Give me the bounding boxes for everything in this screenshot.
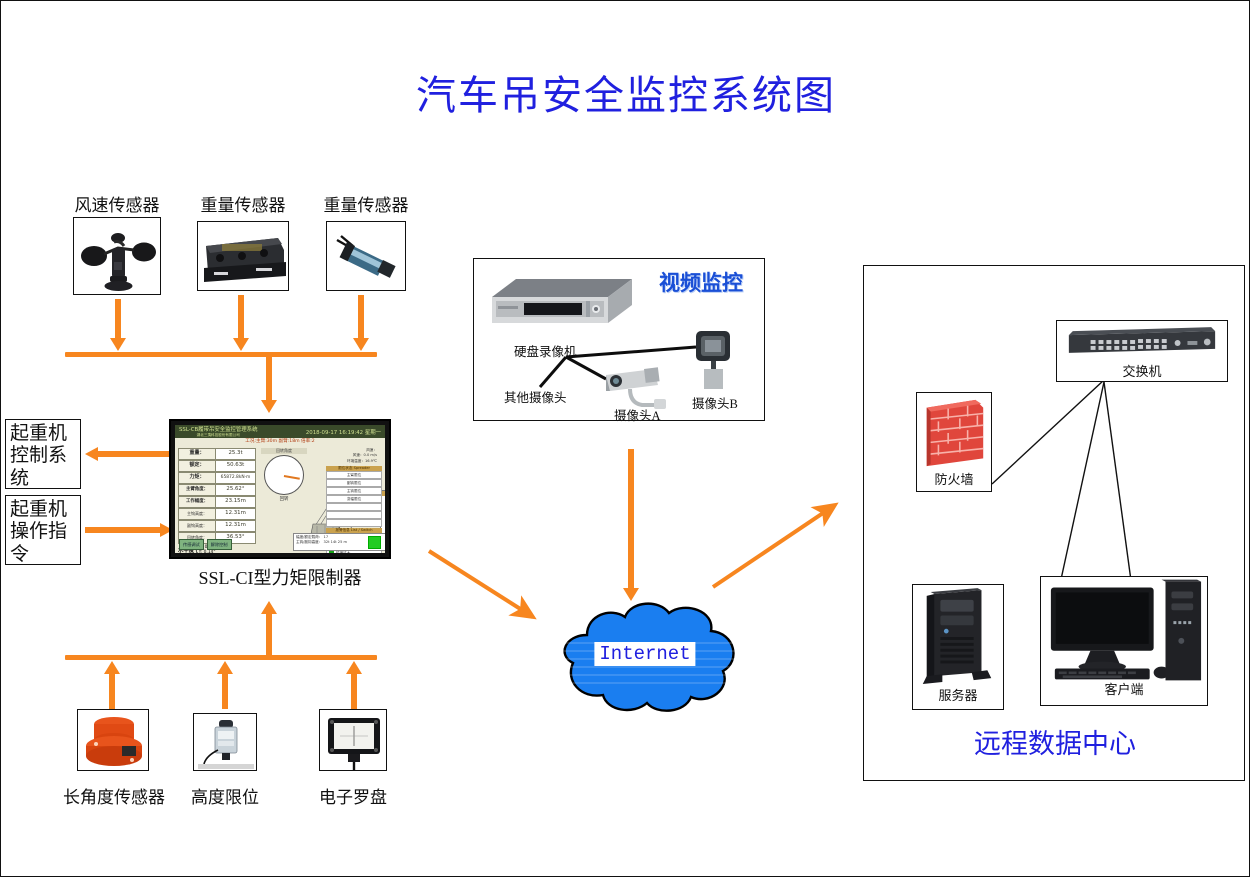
sensor-image-height-limiter bbox=[193, 713, 257, 771]
controller-subheader: 工况:主臂:30m 副臂:18m 倍率:2 bbox=[175, 438, 385, 446]
controller-caption: SSL-CI型力矩限制器 bbox=[169, 564, 391, 590]
arrow-bottom-bus-to-controller bbox=[261, 601, 277, 657]
anemometer-icon bbox=[74, 218, 161, 295]
device-network-switch[interactable]: 交换机 bbox=[1056, 320, 1228, 382]
arrow-controller-to-crane-control bbox=[85, 447, 173, 461]
camera-a-label: 摄像头A bbox=[614, 405, 661, 424]
table-row: 主钩高度： 12.31m bbox=[178, 508, 256, 520]
controller-wind-note: 风速： 风速：0.0 m/s 环境温度：16.9℃ bbox=[347, 448, 377, 464]
controller-screen: SSL-CB履带吊安全监控管理系统 湖北三夷科技股份有限公司 2018-09-1… bbox=[175, 425, 385, 553]
electronic-compass-icon bbox=[320, 710, 387, 771]
table-row: 力矩： 65872.8kN·m bbox=[178, 472, 256, 484]
arrow-height-limiter-to-bus bbox=[217, 661, 233, 709]
angle-sensor-icon bbox=[78, 710, 149, 771]
controller-status-indicator bbox=[368, 536, 381, 549]
arrow-compass-to-bus bbox=[346, 661, 362, 709]
sensor-image-anemometer bbox=[73, 217, 161, 295]
arrow-video-to-internet bbox=[623, 449, 639, 601]
server-tower-icon bbox=[913, 585, 1003, 691]
controller-slew-gauge: 回转角度 回转 bbox=[261, 448, 307, 502]
controller-screen-header: SSL-CB履带吊安全监控管理系统 湖北三夷科技股份有限公司 2018-09-1… bbox=[175, 425, 385, 438]
sensor-label-height-limit: 高度限位 bbox=[171, 783, 279, 808]
internet-cloud: Internet bbox=[539, 593, 751, 715]
table-row: 重量： 25.3t bbox=[178, 448, 256, 460]
table-row: 副钩高度： 12.31m bbox=[178, 520, 256, 532]
pin-load-sensor-icon bbox=[327, 222, 406, 291]
data-center-title: 远程数据中心 bbox=[864, 722, 1246, 761]
switch-label: 交换机 bbox=[1057, 361, 1227, 380]
camera-b-device bbox=[688, 329, 738, 393]
table-row: 额定： 50.63t bbox=[178, 460, 256, 472]
controller-header-title: SSL-CB履带吊安全监控管理系统 bbox=[179, 425, 257, 433]
video-surveillance-group: 视频监控 硬盘录像机 其他摄像头 bbox=[473, 258, 765, 421]
controller-buttons[interactable]: 传感调试 解除控制 bbox=[179, 539, 232, 550]
device-client[interactable]: 客户端 bbox=[1040, 576, 1208, 706]
sensor-image-pin-sensor bbox=[326, 221, 406, 291]
device-server[interactable]: 服务器 bbox=[912, 584, 1004, 710]
client-label: 客户端 bbox=[1041, 679, 1207, 698]
sensor-image-compass bbox=[319, 709, 387, 771]
arrow-crane-command-to-controller bbox=[85, 523, 173, 537]
sensor-image-load-cell bbox=[197, 221, 289, 291]
box-crane-control-system-label: 起重机控制系统 bbox=[10, 423, 67, 489]
moment-limiter-device[interactable]: SSL-CB履带吊安全监控管理系统 湖北三夷科技股份有限公司 2018-09-1… bbox=[169, 419, 391, 559]
sensor-label-weight-b: 重量传感器 bbox=[306, 191, 426, 216]
desktop-client-icon bbox=[1041, 577, 1207, 687]
sensor-debug-button[interactable]: 传感调试 bbox=[179, 539, 204, 550]
sensor-label-wind-speed: 风速传感器 bbox=[57, 191, 177, 216]
other-cameras-label: 其他摄像头 bbox=[504, 387, 567, 406]
box-crane-control-system[interactable]: 起重机控制系统 bbox=[5, 419, 81, 489]
arrow-bus-to-controller bbox=[261, 357, 277, 413]
height-limiter-icon bbox=[194, 714, 257, 771]
server-label: 服务器 bbox=[913, 685, 1003, 704]
sensor-label-compass: 电子罗盘 bbox=[299, 783, 407, 808]
remote-data-center-group: 交换机 防火墙 bbox=[863, 265, 1245, 781]
camera-b-label: 摄像头B bbox=[692, 393, 738, 412]
gauge-dial bbox=[264, 455, 304, 495]
device-firewall[interactable]: 防火墙 bbox=[916, 392, 992, 492]
top-sensor-bus-line bbox=[65, 352, 377, 357]
gauge-needle bbox=[284, 475, 300, 479]
arrow-weight-sensor-b-to-bus bbox=[353, 295, 369, 351]
network-switch-icon bbox=[1057, 321, 1227, 363]
page-title: 汽车吊安全监控系统图 bbox=[1, 63, 1250, 121]
diagram-canvas: 汽车吊安全监控系统图 风速传感器 重量传感器 bbox=[0, 0, 1250, 877]
release-control-button[interactable]: 解除控制 bbox=[207, 539, 232, 550]
internet-label: Internet bbox=[594, 642, 695, 666]
arrow-angle-sensor-to-bus bbox=[104, 661, 120, 709]
arrow-weight-sensor-a-to-bus bbox=[233, 295, 249, 351]
firewall-brick-icon bbox=[917, 393, 991, 473]
camera-box-icon bbox=[688, 329, 738, 393]
firewall-label: 防火墙 bbox=[917, 469, 991, 488]
controller-data-table: 重量： 25.3t 额定： 50.63t 力矩： 65872.8kN·m 主臂角… bbox=[178, 448, 256, 553]
table-row: 主臂角度： 25.62° bbox=[178, 484, 256, 496]
load-cell-icon bbox=[198, 222, 289, 291]
table-row: 工作幅度： 23.15m bbox=[178, 496, 256, 508]
controller-header-datetime: 2018-09-17 16:19:42 星期一 bbox=[306, 428, 381, 436]
arrow-wind-sensor-to-bus bbox=[110, 299, 126, 351]
sensor-label-angle: 长角度传感器 bbox=[55, 783, 173, 808]
bottom-sensor-bus-line bbox=[65, 655, 377, 660]
box-crane-operation-command-label: 起重机操作指令 bbox=[10, 499, 67, 565]
sensor-image-angle-sensor bbox=[77, 709, 149, 771]
box-crane-operation-command[interactable]: 起重机操作指令 bbox=[5, 495, 81, 565]
sensor-label-weight-a: 重量传感器 bbox=[183, 191, 303, 216]
